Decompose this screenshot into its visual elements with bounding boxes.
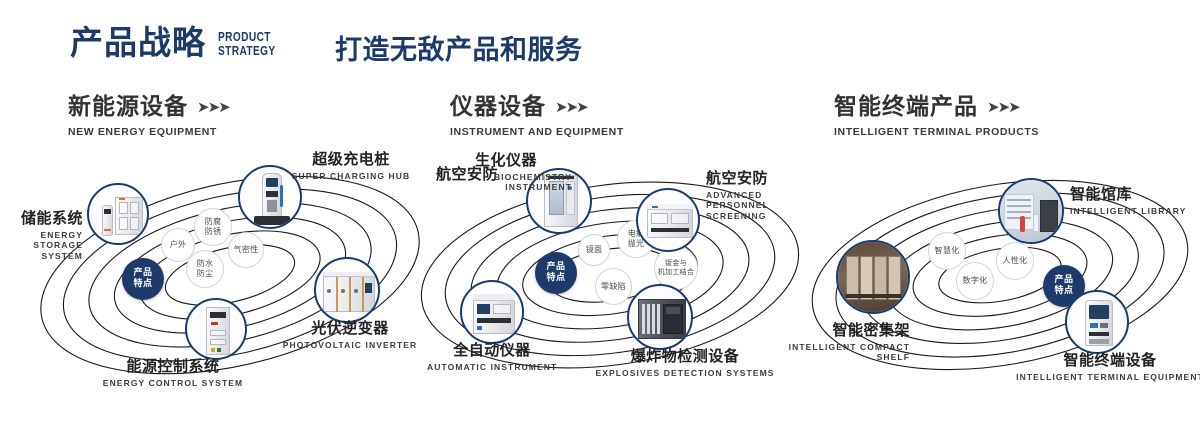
node-label-photovoltaic-inverter: 光伏逆变器 PHOTOVOLTAIC INVERTER bbox=[270, 320, 430, 350]
chevron-right-icon: ➤➤➤ bbox=[197, 100, 229, 115]
node-explosives-detector[interactable] bbox=[627, 284, 693, 350]
section-title-en: NEW ENERGY EQUIPMENT bbox=[68, 126, 229, 138]
node-label-compact-shelf: 智能密集架 INTELLIGENT COMPACT SHELF bbox=[730, 322, 910, 363]
node-energy-control-system[interactable] bbox=[185, 298, 247, 360]
feature-bubble: 防水 防尘 bbox=[186, 250, 224, 288]
page-header: 产品战略 PRODUCT STRATEGY 打造无敌产品和服务 bbox=[70, 26, 292, 78]
node-label-terminal-kiosk: 智能终端设备 INTELLIGENT TERMINAL EQUIPMENT bbox=[1015, 352, 1200, 382]
section-title-intelligent-terminal: 智能终端产品➤➤➤ INTELLIGENT TERMINAL PRODUCTS bbox=[834, 96, 1039, 138]
section-title-new-energy: 新能源设备➤➤➤ NEW ENERGY EQUIPMENT bbox=[68, 96, 229, 138]
core-bubble: 产品 特点 bbox=[535, 252, 577, 294]
feature-bubble: 镜面 bbox=[578, 234, 610, 266]
section-title-en: INSTRUMENT AND EQUIPMENT bbox=[450, 126, 624, 138]
node-compact-shelf[interactable] bbox=[836, 240, 910, 314]
node-label-biochemistry-instrument: 生化仪器 BIOCHEMISTRY INSTRUMENT bbox=[440, 152, 572, 193]
node-automatic-instrument[interactable] bbox=[460, 280, 524, 344]
node-photovoltaic-inverter[interactable] bbox=[314, 257, 380, 323]
node-label-smart-library: 智能馆库 INTELLIGENT LIBRARY bbox=[1070, 186, 1200, 216]
feature-bubble: 智慧化 bbox=[928, 232, 966, 270]
node-screening-machine[interactable] bbox=[636, 188, 700, 252]
section-title-instrument: 仪器设备➤➤➤ INSTRUMENT AND EQUIPMENT bbox=[450, 96, 624, 138]
node-smart-library[interactable] bbox=[998, 178, 1064, 244]
section-title-cn: 仪器设备➤➤➤ bbox=[450, 96, 624, 119]
page-title-cn: 产品战略 bbox=[70, 26, 206, 59]
orbit-group-intelligent-terminal: 智慧化 数字化 人性化 产品 特点 智能馆库 INTELLIGENT LIBRA… bbox=[800, 150, 1200, 400]
page-subtitle: 打造无敌产品和服务 bbox=[335, 28, 583, 67]
section-title-en: INTELLIGENT TERMINAL PRODUCTS bbox=[834, 126, 1039, 138]
chevron-right-icon: ➤➤➤ bbox=[987, 100, 1019, 115]
node-label-energy-storage: 储能系统 ENERGY STORAGE SYSTEM bbox=[0, 210, 83, 261]
chevron-right-icon: ➤➤➤ bbox=[555, 100, 587, 115]
core-bubble: 产品 特点 bbox=[122, 258, 164, 300]
section-title-cn: 智能终端产品➤➤➤ bbox=[834, 96, 1039, 119]
page-title-en: PRODUCT STRATEGY bbox=[218, 30, 276, 58]
node-label-automatic-instrument: 全自动仪器 AUTOMATIC INSTRUMENT bbox=[427, 342, 557, 372]
feature-bubble: 人性化 bbox=[996, 242, 1034, 280]
section-title-cn: 新能源设备➤➤➤ bbox=[68, 96, 229, 119]
node-terminal-kiosk[interactable] bbox=[1065, 290, 1129, 354]
node-label-energy-control-system: 能源控制系统 ENERGY CONTROL SYSTEM bbox=[78, 358, 268, 388]
orbit-group-new-energy: 产品 特点 户外 防腐 防锈 防水 防尘 气密性 储能系统 ENERGY STO… bbox=[30, 150, 430, 400]
feature-bubble: 零缺陷 bbox=[595, 268, 632, 305]
feature-bubble: 防腐 防锈 bbox=[194, 208, 232, 246]
feature-bubble: 数字化 bbox=[956, 262, 994, 300]
product-strategy-infographic: 产品战略 PRODUCT STRATEGY 打造无敌产品和服务 新能源设备➤➤➤… bbox=[0, 0, 1200, 422]
feature-bubble: 气密性 bbox=[228, 232, 264, 268]
node-energy-storage[interactable] bbox=[87, 183, 149, 245]
